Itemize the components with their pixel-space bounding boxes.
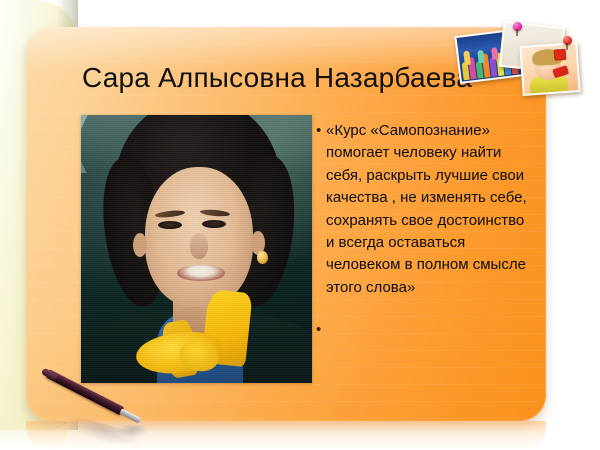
bullet-marker-icon: • bbox=[316, 319, 326, 341]
photo-collage bbox=[455, 22, 581, 98]
pushpin-icon bbox=[563, 36, 572, 45]
presentation-slide: Сара Алпысовна Назарбаева • «Курс «Самоп… bbox=[0, 0, 600, 450]
collage-photo-child bbox=[519, 42, 580, 96]
bullet-list: • «Курс «Самопознание» помогает человеку… bbox=[316, 120, 534, 343]
bullet-marker-icon: • bbox=[316, 120, 326, 142]
list-item: • bbox=[316, 319, 534, 341]
slide-title: Сара Алпысовна Назарбаева bbox=[82, 62, 472, 94]
collage-photo-child-image bbox=[521, 44, 578, 94]
pushpin-icon bbox=[513, 22, 522, 31]
portrait-photo bbox=[81, 115, 312, 383]
bullet-text: «Курс «Самопознание» помогает человеку н… bbox=[326, 120, 534, 299]
portrait-photo-grain bbox=[81, 115, 312, 383]
list-item: • «Курс «Самопознание» помогает человеку… bbox=[316, 120, 534, 299]
pen-tip-reflection bbox=[118, 425, 148, 437]
collage-red-block-upper bbox=[554, 49, 567, 61]
